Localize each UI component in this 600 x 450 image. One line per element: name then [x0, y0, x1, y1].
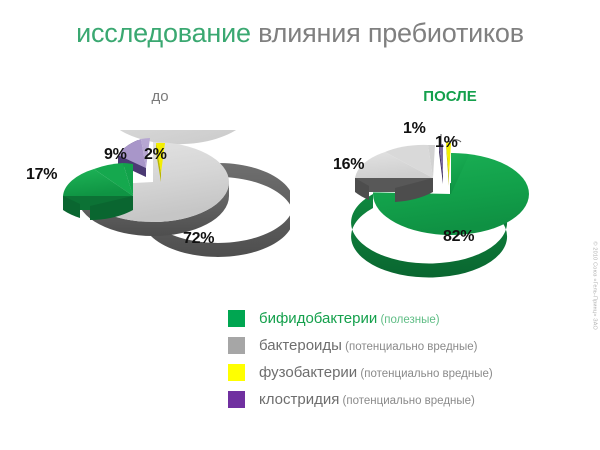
legend-item-fusobacteria[interactable]: фузобактерии (потенциально вредные): [228, 359, 578, 386]
legend-note-clostridia: (потенциально вредные): [339, 395, 475, 407]
label-after-1b: 1%: [435, 134, 458, 152]
label-before-9: 9%: [104, 146, 127, 164]
label-after-82: 82%: [443, 228, 474, 246]
legend-item-bifidobacteria[interactable]: бифидобактерии (полезные): [228, 305, 578, 332]
legend-label-bacteroides: бактероиды (потенциально вредные): [259, 338, 478, 354]
label-before-17: 17%: [26, 166, 57, 184]
pie-after-svg: [325, 128, 595, 303]
chart-legend: бифидобактерии (полезные) бактероиды (по…: [228, 305, 578, 413]
label-after-16: 16%: [333, 156, 364, 174]
legend-item-bacteroides[interactable]: бактероиды (потенциально вредные): [228, 332, 578, 359]
legend-swatch-purple: [228, 391, 245, 408]
legend-swatch-green: [228, 310, 245, 327]
caption-before: до: [100, 88, 220, 105]
label-before-72: 72%: [183, 230, 214, 248]
slide-canvas: исследование влияния пребиотиков до ПОСЛ…: [0, 0, 600, 450]
page-title-muted: влияния пребиотиков: [251, 18, 524, 48]
caption-after: ПОСЛЕ: [390, 88, 510, 105]
legend-label-bifidobacteria: бифидобактерии (полезные): [259, 311, 440, 327]
pie-chart-before: 17% 9% 2% 72%: [20, 130, 290, 305]
label-before-2: 2%: [144, 146, 167, 164]
label-after-1a: 1%: [403, 120, 426, 138]
copyright-credit: © 2010 Союз «Гель-Принц» ЗАО: [592, 241, 598, 330]
legend-name-bifidobacteria: бифидобактерии: [259, 310, 377, 327]
page-title: исследование влияния пребиотиков: [0, 18, 600, 49]
legend-note-fusobacteria: (потенциально вредные): [357, 368, 493, 380]
legend-swatch-gray: [228, 337, 245, 354]
legend-item-clostridia[interactable]: клостридия (потенциально вредные): [228, 386, 578, 413]
legend-name-bacteroides: бактероиды: [259, 337, 342, 354]
legend-swatch-yellow: [228, 364, 245, 381]
legend-label-fusobacteria: фузобактерии (потенциально вредные): [259, 365, 493, 381]
legend-name-clostridia: клостридия: [259, 391, 339, 408]
legend-note-bifidobacteria: (полезные): [377, 314, 439, 326]
legend-note-bacteroides: (потенциально вредные): [342, 341, 478, 353]
legend-name-fusobacteria: фузобактерии: [259, 364, 357, 381]
legend-label-clostridia: клостридия (потенциально вредные): [259, 392, 475, 408]
page-title-accent: исследование: [76, 18, 251, 48]
pie-chart-after: 16% 1% 1% 82%: [325, 128, 595, 303]
